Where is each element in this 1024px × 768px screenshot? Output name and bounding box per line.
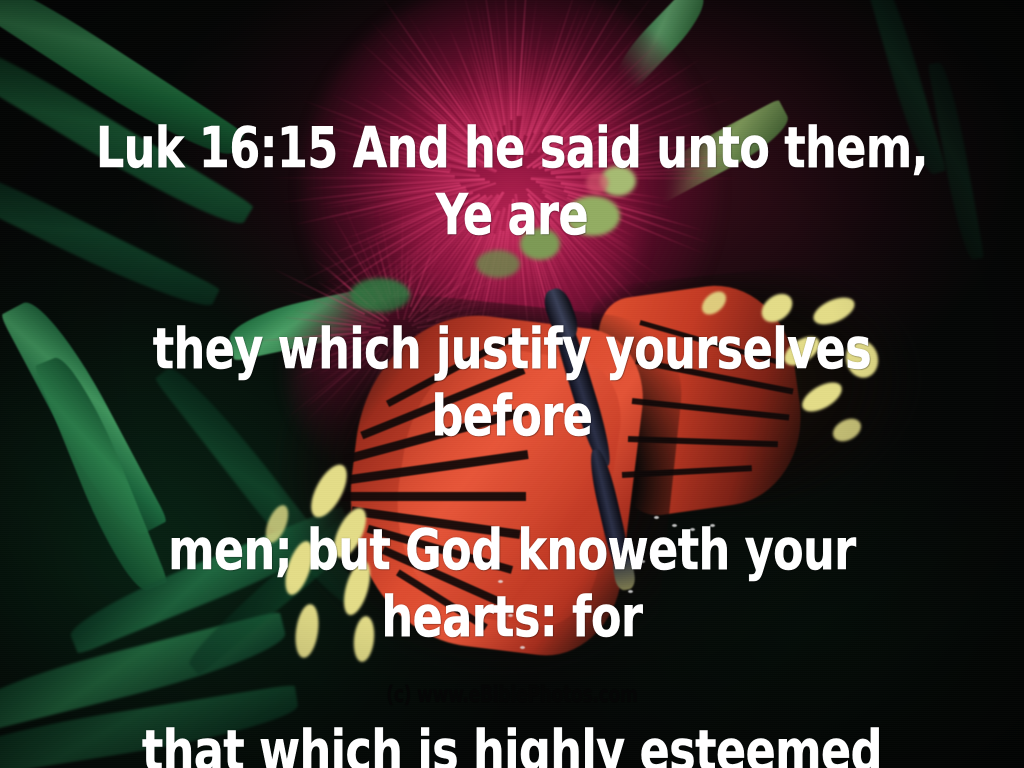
- image-canvas: Luk 16:15 And he said unto them, Ye are …: [0, 0, 1024, 768]
- verse-line-2: they which justify yourselves before: [90, 316, 935, 450]
- verse-line-3: men; but God knoweth your hearts: for: [90, 517, 935, 651]
- copyright-watermark: (c) www.eBiblePhotos.com: [92, 684, 932, 707]
- bible-verse-text: Luk 16:15 And he said unto them, Ye are …: [61, 48, 962, 768]
- verse-line-1: Luk 16:15 And he said unto them, Ye are: [90, 115, 935, 249]
- verse-line-4: that which is highly esteemed among: [90, 718, 935, 768]
